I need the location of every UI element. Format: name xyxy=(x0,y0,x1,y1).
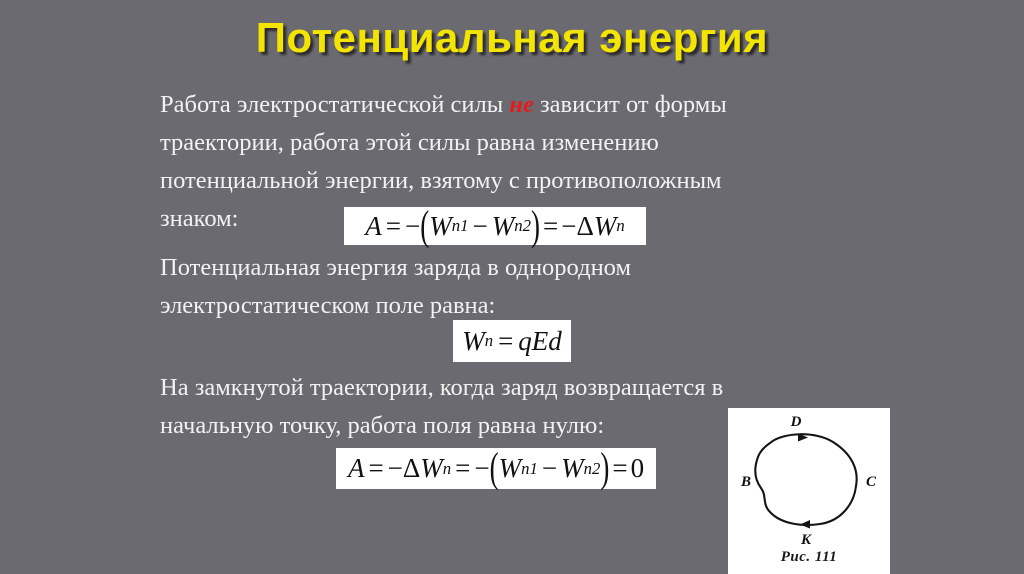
paragraph-2: Потенциальная энергия заряда в однородно… xyxy=(160,249,760,325)
formula-1-w1: W xyxy=(429,211,452,242)
formula-3-open-paren: ( xyxy=(490,444,499,492)
slide: Потенциальная энергия Работа электростат… xyxy=(0,0,1024,574)
arrowhead-bottom-icon xyxy=(800,520,810,529)
formula-3-minus-2: − xyxy=(474,453,489,484)
paragraph-1-accent-word: не xyxy=(509,91,533,118)
formula-2-w: W xyxy=(462,326,485,357)
figure-closed-trajectory: D B C K Рис. 111 xyxy=(728,408,890,574)
formula-2-rhs: qEd xyxy=(518,326,562,357)
paragraph-3: На замкнутой траектории, когда заряд воз… xyxy=(160,369,760,445)
formula-potential-energy-uniform-field: Wn=qEd xyxy=(453,320,571,362)
formula-1-equals-2: = xyxy=(543,211,558,242)
label-point-b: B xyxy=(740,474,751,490)
formula-2-equals: = xyxy=(498,326,513,357)
formula-3-minus-1: − xyxy=(388,453,403,484)
formula-3-zero: 0 xyxy=(631,453,645,484)
formula-1-equals-1: = xyxy=(386,211,401,242)
formula-1-open-paren: ( xyxy=(420,202,429,250)
formula-closed-loop-work: A=−ΔWn=−(Wn1−Wn2)=0 xyxy=(336,448,656,489)
formula-1-w2: W xyxy=(492,211,515,242)
formula-3-equals-3: = xyxy=(612,453,627,484)
formula-3-equals-2: = xyxy=(455,453,470,484)
formula-1-minus-3: − xyxy=(561,211,576,242)
formula-potential-energy-change: A=−(Wn1−Wn2)=−ΔWn xyxy=(344,207,646,245)
label-point-c: C xyxy=(866,474,877,490)
closed-loop-diagram: D B C K xyxy=(728,408,890,548)
formula-3-w1: W xyxy=(499,453,522,484)
figure-caption: Рис. 111 xyxy=(728,549,890,566)
formula-1-close-paren: ) xyxy=(531,202,540,250)
loop-path xyxy=(755,434,856,525)
page-title: Потенциальная энергия xyxy=(0,14,1024,62)
formula-3-minus-3: − xyxy=(542,453,557,484)
formula-3-w2: W xyxy=(561,453,584,484)
formula-3-lhs: A xyxy=(348,453,365,484)
label-point-d: D xyxy=(790,414,802,430)
formula-1-minus-2: − xyxy=(473,211,488,242)
formula-1-w3: W xyxy=(594,211,617,242)
formula-1-lhs: A xyxy=(365,211,382,242)
paragraph-1-before: Работа электростатической силы xyxy=(160,91,509,118)
formula-3-w0: W xyxy=(420,453,443,484)
formula-3-close-paren: ) xyxy=(600,444,609,492)
label-point-k: K xyxy=(800,532,812,548)
formula-3-delta: Δ xyxy=(403,453,420,484)
formula-3-equals-1: = xyxy=(368,453,383,484)
formula-1-minus-1: − xyxy=(405,211,420,242)
formula-1-delta: Δ xyxy=(576,211,593,242)
